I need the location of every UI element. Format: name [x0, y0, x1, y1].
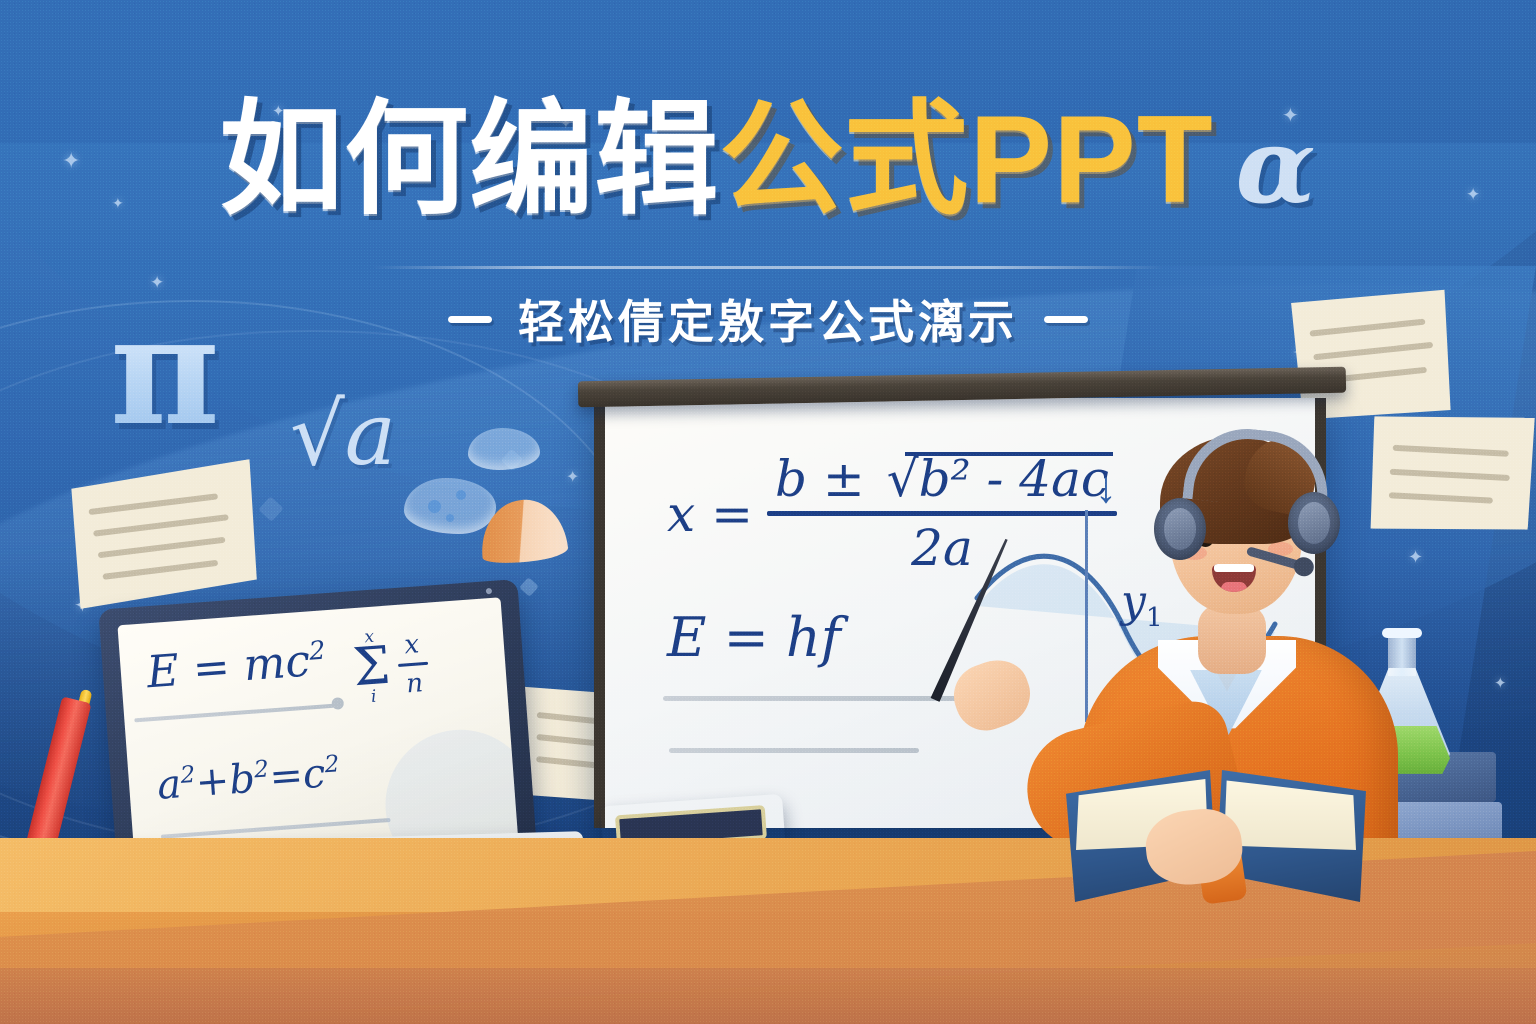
- poster-canvas: ✦ ✦ ✦ ✦ ✦ ✦ ✦ ✦ ✦ ✦ ✦ ✦ ✦ ✦ 如何编辑公式PPTα 轻…: [0, 0, 1536, 1024]
- pointer-stick-icon: [880, 524, 1000, 700]
